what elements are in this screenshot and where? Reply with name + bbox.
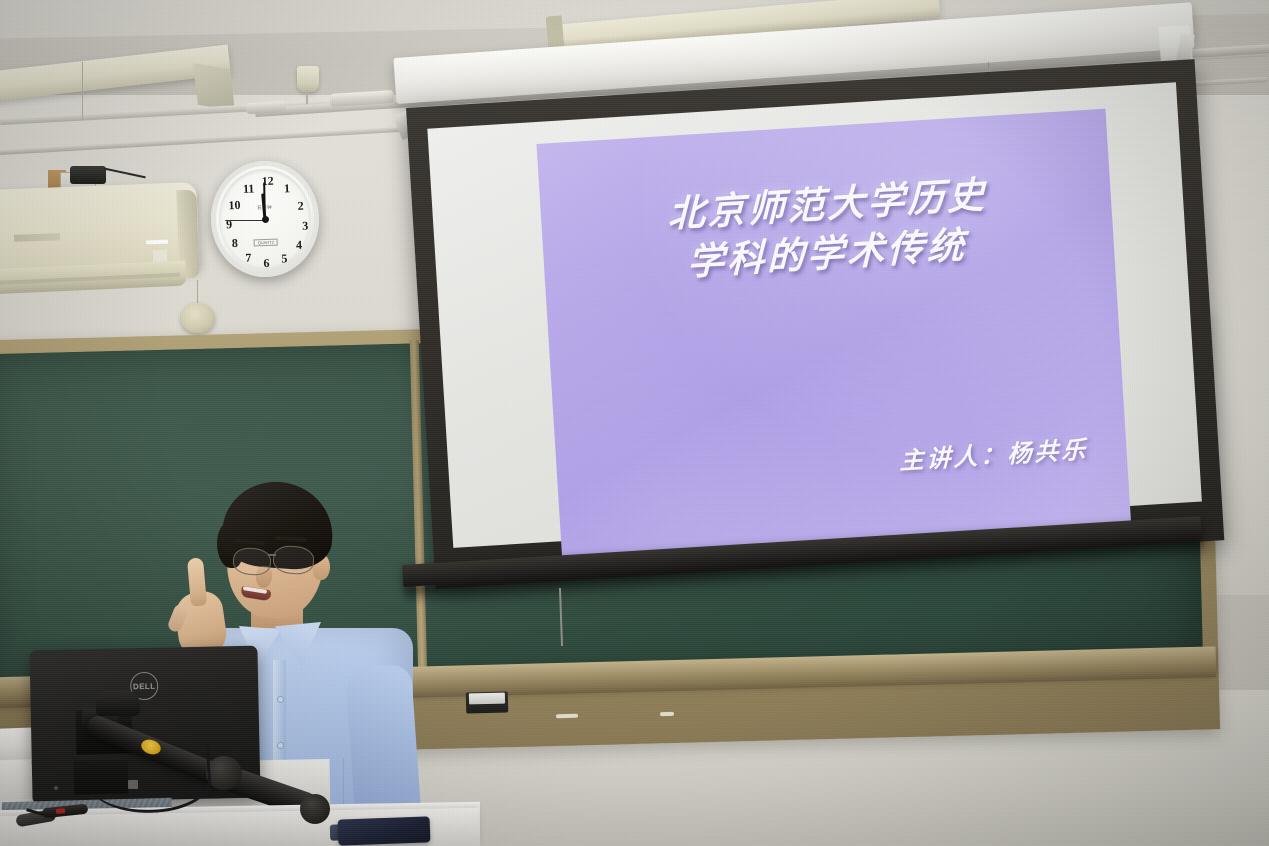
desk-phone-or-folder[interactable] [338, 816, 431, 845]
slide-presenter-line: 主讲人：杨共乐 [900, 429, 1089, 476]
clock-center-pin [262, 216, 269, 223]
clock-number-4: 4 [296, 238, 303, 253]
clock-number-2: 2 [297, 199, 304, 214]
white-device-body [0, 759, 33, 801]
fluorescent-light-right-cap [546, 15, 565, 48]
outlet-plug [70, 166, 106, 184]
slide-title: 北京师范大学历史 学科的学术传统 [542, 162, 1112, 295]
classroom-photo-scene: 12 1 2 3 4 5 6 7 8 9 10 11 石英钟 QUARTZ [0, 0, 1269, 846]
clock-number-8: 8 [232, 236, 239, 251]
monitor-arm-joint-2[interactable] [300, 794, 330, 824]
chalk-piece-2[interactable] [660, 712, 674, 716]
monitor-screw-hole [54, 786, 58, 790]
dell-logo-text: DELL [133, 681, 156, 690]
chalk-piece-1[interactable] [556, 714, 578, 719]
clock-number-6: 6 [263, 256, 270, 271]
projected-slide: 北京师范大学历史 学科的学术传统 主讲人：杨共乐 [536, 109, 1131, 563]
projection-screen-border: 北京师范大学历史 学科的学术传统 主讲人：杨共乐 [406, 59, 1224, 589]
clock-number-11: 11 [243, 181, 255, 196]
sprinkler-stem [306, 90, 308, 104]
air-conditioner-sticker [146, 240, 168, 245]
pointing-index-finger [187, 557, 207, 606]
projection-screen-surface: 北京师范大学历史 学科的学术传统 主讲人：杨共乐 [427, 82, 1202, 548]
clock-number-1: 1 [284, 181, 291, 196]
monitor-arm-clamp [96, 690, 140, 716]
chalkboard-eraser-felt [469, 693, 505, 705]
clock-number-7: 7 [245, 251, 252, 266]
clock-sub-text: QUARTZ [254, 239, 279, 247]
clock-number-10: 10 [228, 198, 241, 213]
clock-number-5: 5 [281, 251, 288, 266]
shirt-button-1 [277, 696, 284, 703]
eyeglasses-bridge [268, 554, 276, 556]
hanging-wire-1 [82, 62, 83, 120]
cable-connector-indicator [56, 808, 65, 814]
fluorescent-light-left-end [193, 63, 235, 111]
sprinkler-head [297, 66, 319, 92]
clock-face: 12 1 2 3 4 5 6 7 8 9 10 11 石英钟 QUARTZ [217, 167, 312, 270]
monitor-arm-joint-1[interactable] [206, 756, 242, 790]
clock-second-hand [225, 220, 265, 221]
clock-number-3: 3 [302, 218, 309, 233]
wall-speaker-icon [181, 303, 215, 333]
shirt-button-2 [277, 742, 284, 749]
